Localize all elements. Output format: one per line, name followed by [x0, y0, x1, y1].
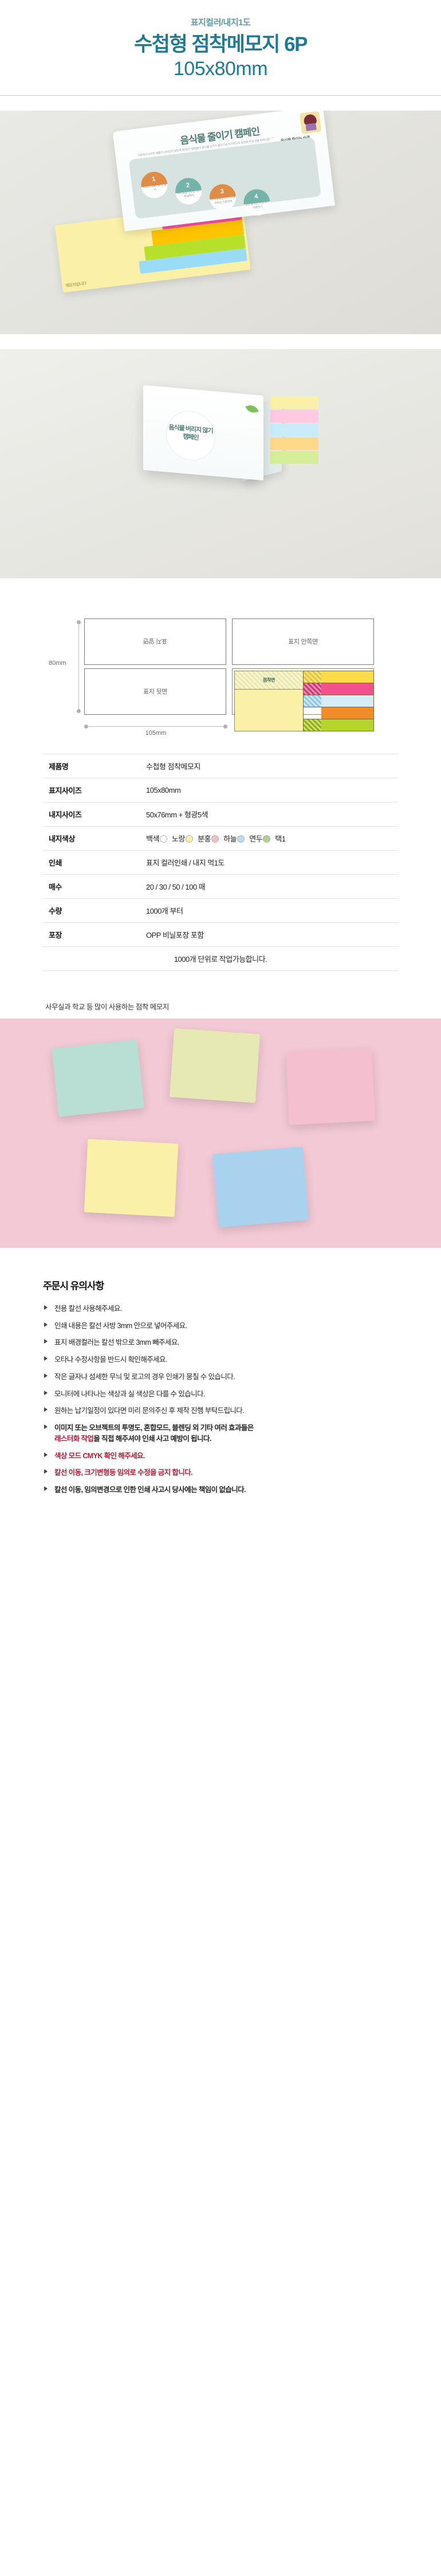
table-row: 제품명 수첩형 점착메모지 [43, 754, 398, 778]
order-notice-section: 주문시 유의사항 전용 칼선 사용해주세요. 인쇄 내용은 칼선 사방 3mm … [43, 1248, 398, 1525]
notice-text: 전용 칼선 사용해주세요. [54, 1305, 122, 1313]
notice-text: 작은 글자나 섬세한 무늬 및 로고의 경우 인쇄가 뭉칠 수 있습니다. [54, 1373, 235, 1381]
spec-value-colors: 백색 노랑 분홍 하늘 연두 택1 [146, 826, 398, 850]
swatch-skyblue-icon [237, 835, 245, 843]
swatch-name: 노랑 [172, 835, 185, 843]
height-label: 80mm [49, 660, 66, 667]
table-row: 수량 1000개 부터 [43, 898, 398, 922]
arrow-icon [44, 1339, 48, 1344]
arrow-icon [44, 1453, 48, 1457]
cell-cover-back: 표지 뒷면 [84, 668, 226, 715]
cell-label: 표지 앞면 [143, 637, 167, 646]
notice-item: 작은 글자나 섬세한 무늬 및 로고의 경우 인쇄가 뭉칠 수 있습니다. [43, 1372, 398, 1383]
arrow-icon [44, 1373, 48, 1378]
swatch-group: 연두 [249, 835, 273, 843]
height-dimension: 80mm [49, 618, 83, 715]
notice-text: 이미지 또는 오브젝트의 투명도, 혼합모드, 블렌딩 외 기타 여러 효과들은 [54, 1424, 254, 1432]
notice-title: 주문시 유의사항 [43, 1278, 398, 1292]
swatch-group: 하늘 [223, 835, 247, 843]
inner-sheet-layout: 점착면 [234, 671, 372, 712]
table-row: 내지사이즈 50x76mm + 형광5색 [43, 802, 398, 826]
fluor-strip-green [303, 719, 374, 731]
swatch-name: 분홍 [198, 835, 211, 843]
spec-value: 105x80mm [146, 778, 398, 802]
spec-value: 1000개 부터 [146, 898, 398, 922]
fan-sheet-blue [270, 424, 318, 436]
product-detail-page: 표지컬러/내지1도 수첩형 점착메모지 6P 105x80mm 메모지입니다 음… [0, 0, 441, 1525]
swatch-pink-icon [211, 835, 219, 843]
spec-value: 20 / 30 / 50 / 100 매 [146, 874, 398, 898]
spec-label: 표지사이즈 [43, 778, 146, 802]
spec-label: 내지색상 [43, 826, 146, 850]
spec-table-section: 제품명 수첩형 점착메모지 표지사이즈 105x80mm 내지사이즈 50x76… [0, 750, 441, 986]
adhesive-area: 점착면 [234, 671, 304, 690]
product-photo-open-notepad: 메모지입니다 음식물 줄이기 캠페인 가정에서 소비한 제품의 남아있지 않도록… [0, 111, 441, 334]
cell-label: 표지 뒷면 [143, 687, 167, 696]
page-title: 수첩형 점착메모지 6P [0, 33, 441, 57]
notice-text: 칼선 이동, 크기변형등 임의로 수정을 금지 합니다. [54, 1469, 192, 1477]
strip-adhesive [304, 719, 321, 731]
strip-adhesive [304, 695, 321, 707]
spacer [0, 334, 441, 349]
spec-label: 수량 [43, 898, 146, 922]
spec-label: 매수 [43, 874, 146, 898]
header-subtitle: 표지컬러/내지1도 [0, 16, 441, 28]
arrow-icon [44, 1486, 48, 1491]
fan-sheet-green [270, 451, 318, 464]
memo-pad-yellow [84, 1139, 178, 1217]
table-row: 포장 OPP 비닐포장 포함 [43, 922, 398, 946]
fan-sheet-yellow [270, 396, 318, 409]
arrow-icon [44, 1424, 48, 1429]
strip-adhesive [304, 707, 321, 719]
strip-body [321, 695, 373, 707]
swatch-yellow-icon [186, 835, 193, 843]
fluor-strip-pink [303, 683, 374, 695]
notice-item: 전용 칼선 사용해주세요. [43, 1303, 398, 1314]
spec-label: 내지사이즈 [43, 802, 146, 826]
sticky-fan [266, 393, 318, 473]
fluor-strip-blue [303, 695, 374, 707]
table-row-footnote: 1000개 단위로 작업가능합니다. [43, 946, 398, 970]
spec-label: 제품명 [43, 754, 146, 778]
notice-item: 인쇄 내용은 칼선 사방 3mm 안으로 넣어주세요. [43, 1321, 398, 1332]
layout-diagram: 80mm 표지 앞면 표지 안쪽면 표지 뒷면 점착면 [43, 618, 398, 733]
notice-text: 인쇄 내용은 칼선 사방 3mm 안으로 넣어주세요. [54, 1322, 187, 1330]
memo-pad-pink [286, 1048, 375, 1125]
spec-footnote: 1000개 단위로 작업가능합니다. [43, 946, 398, 970]
dim-dot [77, 709, 81, 713]
arrow-icon [44, 1469, 48, 1474]
dim-dot [223, 725, 227, 729]
table-row: 내지색상 백색 노랑 분홍 하늘 연두 택1 [43, 826, 398, 850]
notice-item: 원하는 납기일정이 있다면 미리 문의주신 후 제작 진행 부탁드립니다. [43, 1406, 398, 1416]
width-dimension: 105mm [84, 723, 227, 735]
spec-value: 50x76mm + 형광5색 [146, 802, 398, 826]
notice-item-bold: 칼선 이동, 임의변경으로 인한 인쇄 사고시 당사에는 책임이 없습니다. [43, 1485, 398, 1496]
memo-sheet-yellow [234, 689, 304, 731]
fluor-strip-yellow [303, 671, 374, 683]
spec-label: 포장 [43, 922, 146, 946]
spec-value: 수첩형 점착메모지 [146, 754, 398, 778]
base-side-label: 메모지입니다 [65, 280, 86, 288]
width-label: 105mm [84, 730, 227, 737]
cell-cover-front: 표지 앞면 [84, 618, 226, 665]
notice-item-highlight: 이미지 또는 오브젝트의 투명도, 혼합모드, 블렌딩 외 기타 여러 효과들은… [43, 1423, 398, 1444]
arrow-icon [44, 1356, 48, 1361]
arrow-icon [44, 1305, 48, 1310]
swatch-group: 백색 [146, 835, 170, 843]
notice-item: 모니터에 나타나는 색상과 실 색상은 다를 수 있습니다. [43, 1389, 398, 1400]
fluor-strip-orange [303, 707, 374, 719]
arrow-icon [44, 1407, 48, 1412]
table-row: 인쇄 표지 컬러인쇄 / 내지 먹1도 [43, 850, 398, 874]
arrow-icon [44, 1322, 48, 1327]
photo-caption: 사무실과 학교 등 많이 사용하는 점착 메모지 [43, 986, 398, 1019]
notice-item-red: 색상 모드 CMYK 확인 해주세요. [43, 1451, 398, 1462]
girl-illustration-icon [300, 111, 321, 134]
notice-item-red: 칼선 이동, 크기변형등 임의로 수정을 금지 합니다. [43, 1467, 398, 1478]
dim-line [78, 622, 79, 711]
spacer [0, 578, 441, 593]
arrow-icon [44, 1391, 48, 1395]
swatch-name: 하늘 [223, 835, 237, 843]
table-row: 표지사이즈 105x80mm [43, 778, 398, 802]
spec-value: OPP 비닐포장 포함 [146, 922, 398, 946]
notice-text-rest: 을 직접 해주셔야 인쇄 사고 예방이 됩니다. [93, 1435, 211, 1443]
notice-text: 모니터에 나타나는 색상과 실 색상은 다를 수 있습니다. [54, 1390, 205, 1398]
swatch-group: 분홍 [198, 835, 222, 843]
technical-diagram-section: 80mm 표지 앞면 표지 안쪽면 표지 뒷면 점착면 [0, 593, 441, 750]
notice-text: 표지 배경컬러는 칼선 밖으로 3mm 빼주세요. [54, 1338, 179, 1346]
dim-line [86, 726, 225, 727]
swatch-suffix: 택1 [275, 835, 285, 843]
strip-body [321, 683, 373, 695]
cover-logo-text: 음식물 버리지 않기 캠페인 [166, 409, 215, 463]
fan-sheet-orange [270, 437, 318, 450]
fan-sheet-pink [270, 410, 318, 422]
cell-cover-inside: 표지 안쪽면 [232, 618, 374, 665]
notice-text-red: 래스터화 작업 [54, 1435, 93, 1443]
notice-list: 전용 칼선 사용해주세요. 인쇄 내용은 칼선 사방 3mm 안으로 넣어주세요… [43, 1303, 398, 1496]
cell-inner-sheets: 점착면 [232, 668, 374, 715]
swatch-name: 연두 [249, 835, 262, 843]
header-size: 105x80mm [0, 57, 441, 80]
spec-table: 제품명 수첩형 점착메모지 표지사이즈 105x80mm 내지사이즈 50x76… [43, 754, 398, 971]
product-photo-pastel-pads [0, 1019, 441, 1248]
page-header: 표지컬러/내지1도 수첩형 점착메모지 6P 105x80mm [0, 0, 441, 95]
swatch-name: 백색 [146, 835, 159, 843]
notice-item: 오타나 수정사항을 반드시 확인해주세요. [43, 1354, 398, 1365]
memo-pad-blue [212, 1146, 309, 1227]
notice-text: 칼선 이동, 임의변경으로 인한 인쇄 사고시 당사에는 책임이 없습니다. [54, 1486, 246, 1494]
notice-text: 원하는 납기일정이 있다면 미리 문의주신 후 제작 진행 부탁드립니다. [54, 1407, 244, 1415]
swatch-white-icon [160, 835, 167, 843]
memo-pad-mint [52, 1039, 144, 1117]
table-row: 매수 20 / 30 / 50 / 100 매 [43, 874, 398, 898]
swatch-lightgreen-icon [263, 835, 270, 843]
strip-adhesive [304, 683, 321, 695]
notice-text: 색상 모드 CMYK 확인 해주세요. [54, 1452, 145, 1460]
notice-item: 표지 배경컬러는 칼선 밖으로 3mm 빼주세요. [43, 1337, 398, 1348]
strip-body [321, 671, 373, 683]
spacer [0, 96, 441, 111]
memo-pad-lime [170, 1028, 260, 1103]
notepad-front-cover: 음식물 버리지 않기 캠페인 [143, 385, 263, 480]
spec-value: 표지 컬러인쇄 / 내지 먹1도 [146, 850, 398, 874]
notepad-cover: 음식물 줄이기 캠페인 가정에서 소비한 제품의 남아있지 않도록 동네2곳 방… [113, 111, 336, 232]
notice-text: 오타나 수정사항을 반드시 확인해주세요. [54, 1356, 167, 1364]
notepad-standing: 음식물 버리지 않기 캠페인 [143, 390, 315, 528]
diagram-grid: 표지 앞면 표지 안쪽면 표지 뒷면 점착면 [84, 618, 385, 716]
strip-body [321, 719, 373, 731]
strip-adhesive [304, 671, 321, 683]
spec-label: 인쇄 [43, 850, 146, 874]
product-photo-standing-notepad: 음식물 버리지 않기 캠페인 [0, 349, 441, 578]
notepad-open: 메모지입니다 음식물 줄이기 캠페인 가정에서 소비한 제품의 남아있지 않도록… [44, 111, 347, 293]
swatch-group: 노랑 [172, 835, 196, 843]
strip-body [321, 707, 373, 719]
cell-label: 표지 안쪽면 [288, 637, 318, 646]
leaf-icon [245, 404, 258, 414]
